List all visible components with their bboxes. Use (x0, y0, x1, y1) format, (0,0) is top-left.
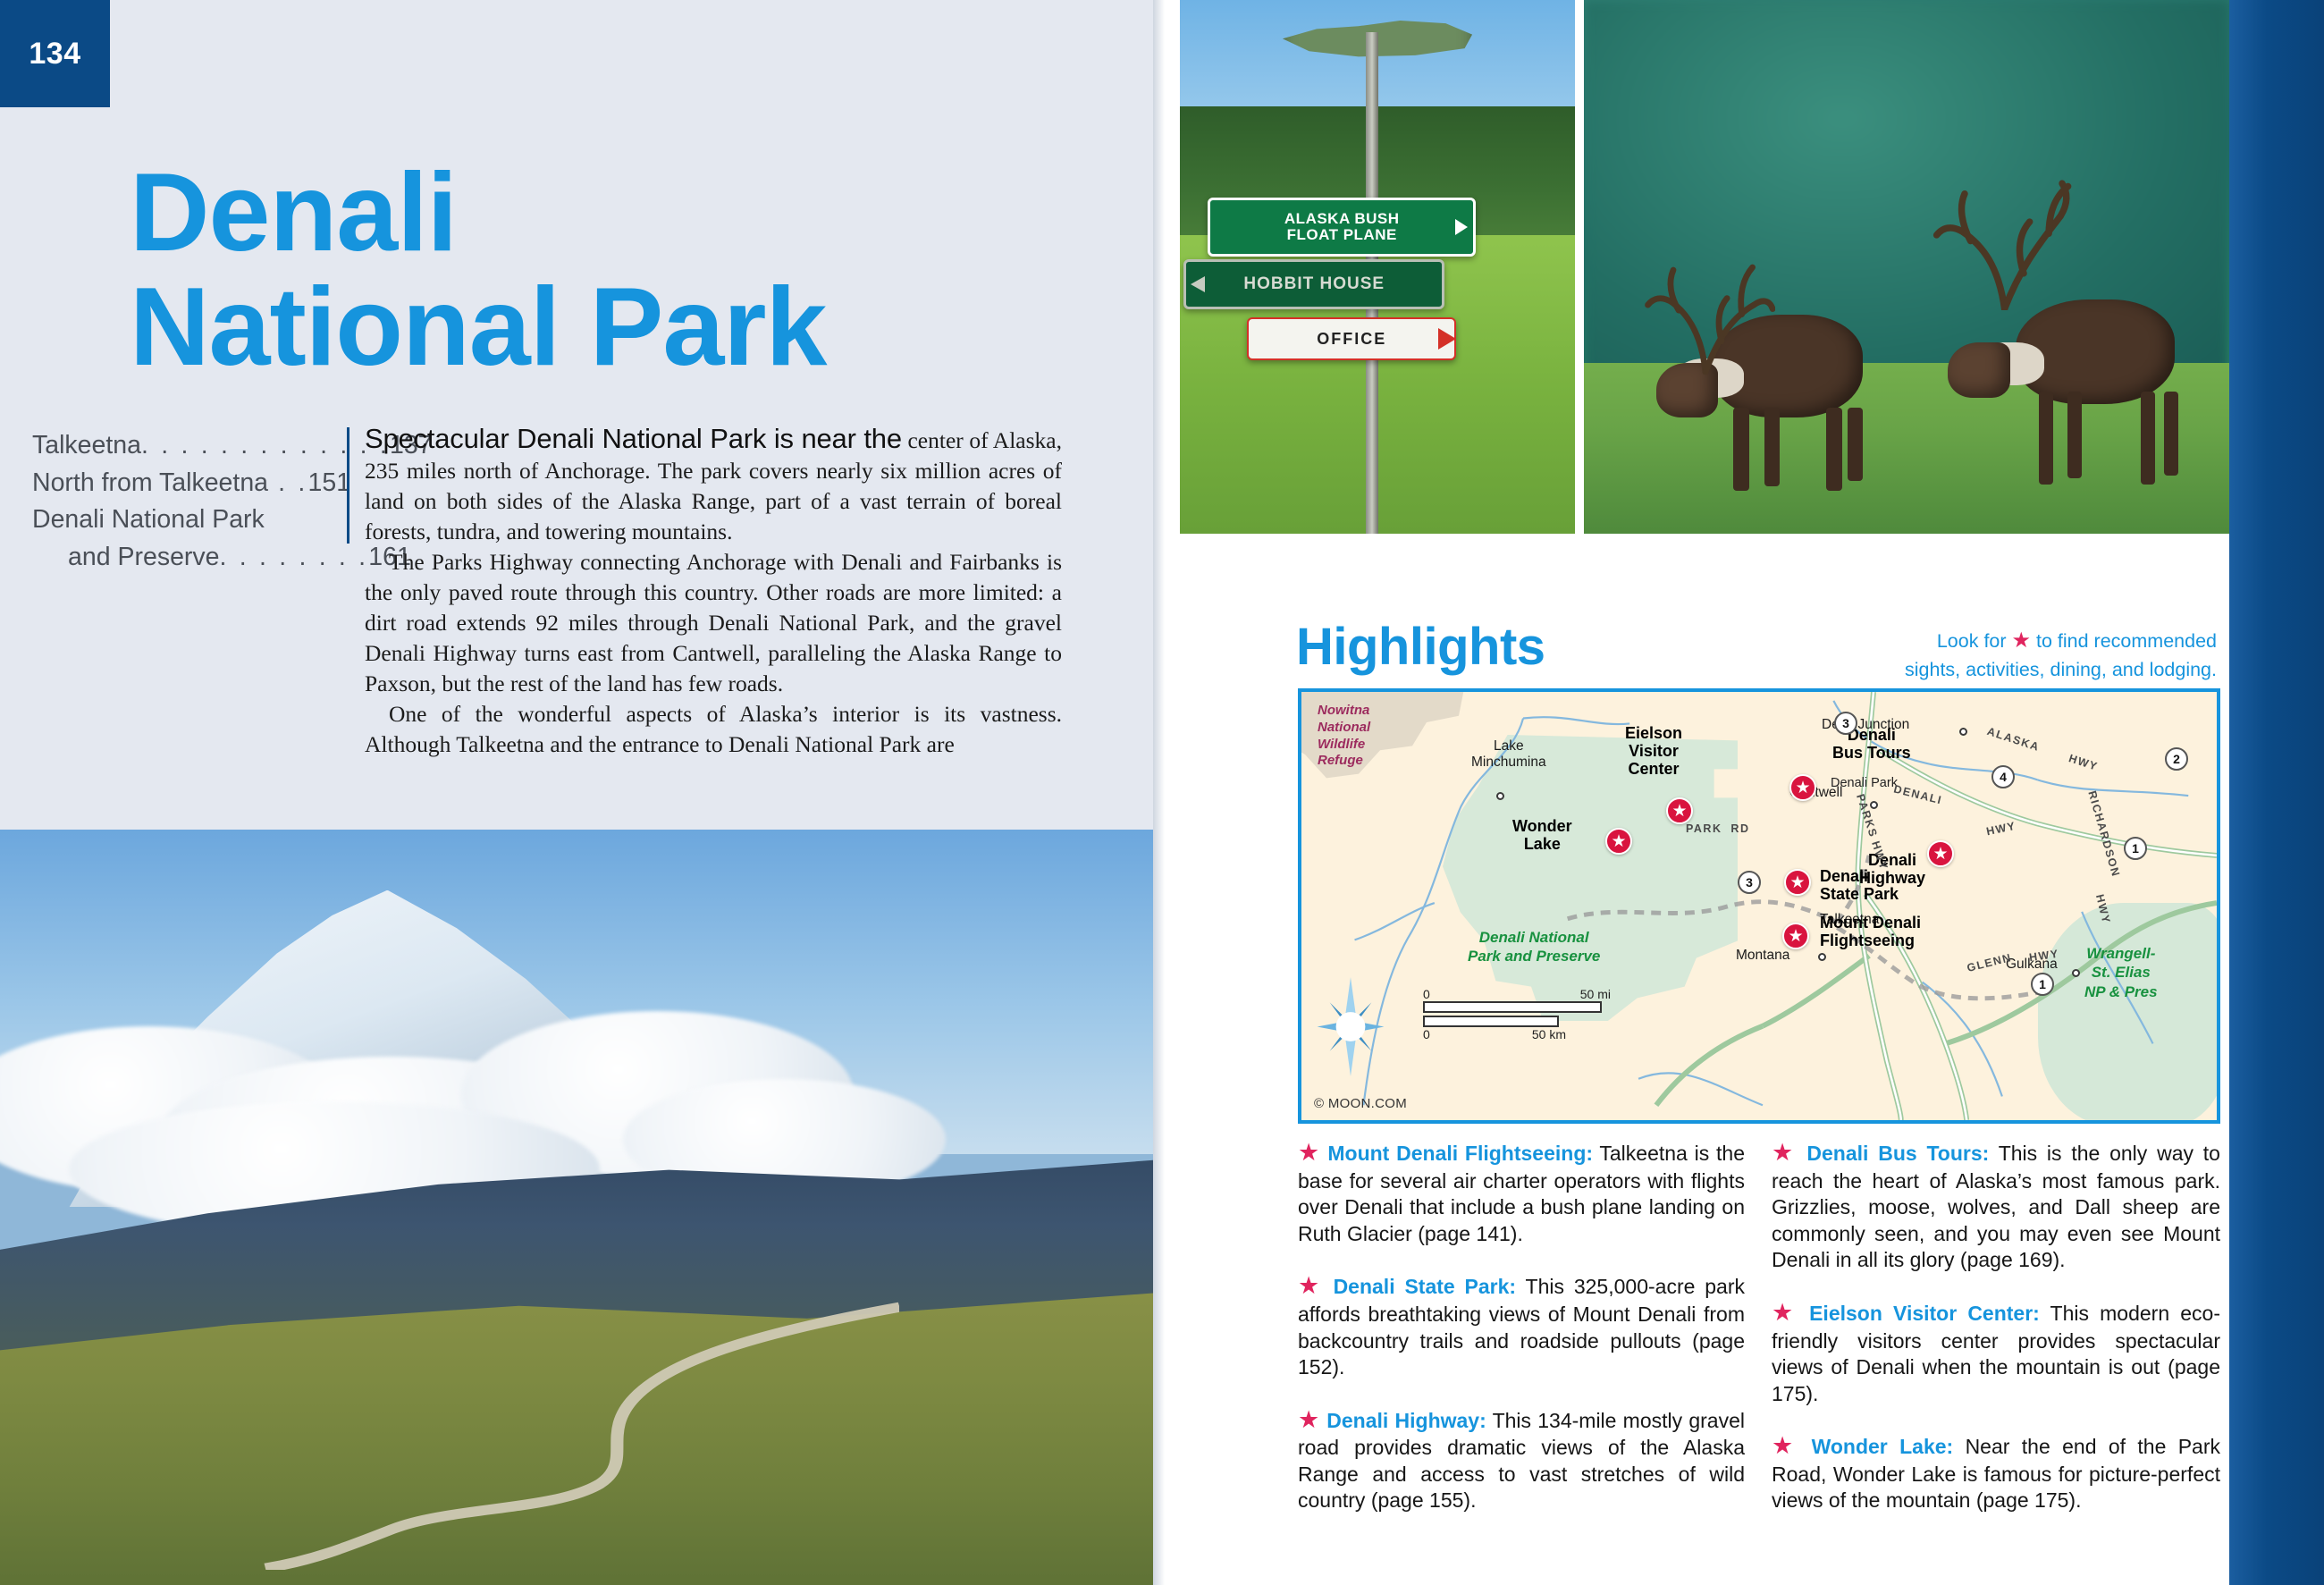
map-label-eielson-visitor-center: EielsonVisitorCenter (1625, 724, 1682, 778)
highlight-name[interactable]: Wonder Lake: (1812, 1435, 1954, 1458)
toc-label: Talkeetna (32, 431, 141, 459)
star-icon: ★ (1298, 1139, 1321, 1166)
highlight-entry-denali-state-park: ★ Denali State Park: This 325,000-acre p… (1298, 1270, 1745, 1380)
city-dot-gulkana (2072, 969, 2080, 977)
highlight-entry-denali-bus-tours: ★ Denali Bus Tours: This is the only way… (1772, 1137, 2220, 1274)
guidebook-spread: 134 Denali National Park Talkeetna. . . … (0, 0, 2324, 1585)
caribou-right (1919, 181, 2203, 491)
map-label-wrangell-st-elias: Wrangell-St. EliasNP & Pres (2084, 944, 2158, 1001)
toc-label: and Preserve (68, 543, 220, 571)
highlights-heading: Highlights (1296, 617, 1545, 677)
star-icon: ★ (1772, 1432, 1799, 1459)
star-icon: ★ (1772, 1299, 1798, 1326)
map-scale-miles-labels: 0 50 mi (1423, 987, 1611, 1001)
map-marker-mount-denali-flightseeing[interactable]: ★ (1782, 923, 1809, 949)
city-dot-montana (1818, 953, 1826, 961)
highway-shield-1-south: 1 (2031, 973, 2054, 996)
highway-shield-3-south: 3 (1738, 871, 1761, 894)
toc-label: North from Talkeetna (32, 468, 268, 497)
scale-bar-km (1423, 1016, 1559, 1027)
note-text-after: to find recommended (2036, 630, 2217, 652)
highlight-name[interactable]: Denali Bus Tours: (1806, 1142, 1989, 1165)
map-scale-km-labels: 0 50 km (1423, 1027, 1566, 1041)
scale-bar-miles (1423, 1001, 1602, 1013)
intro-lead: Spectacular Denali National Park is near… (365, 423, 902, 454)
toc-dots: . . . . . . . . (220, 543, 369, 571)
toc-page: 151 (308, 468, 351, 497)
highlight-entry-denali-highway: ★ Denali Highway: This 134-mile mostly g… (1298, 1404, 1745, 1514)
caribou-leg (1733, 408, 1748, 491)
intro-text-column: Spectacular Denali National Park is near… (365, 423, 1062, 760)
highway-shield-3: 3 (1834, 712, 1857, 735)
star-icon: ★ (1772, 1139, 1798, 1166)
sign-alaska-bush-float-plane: ALASKA BUSH FLOAT PLANE (1208, 198, 1477, 257)
highlight-text: ★ Denali Bus Tours: This is the only way… (1772, 1137, 2220, 1274)
toc-item-and-preserve[interactable]: and Preserve. . . . . . . .161 (32, 539, 336, 577)
toc-dots: . . (268, 468, 307, 497)
caribou-leg (2067, 392, 2082, 478)
map-scale-bar: 0 50 mi 0 50 km (1423, 987, 1611, 1041)
map-label-lake-minchumina: LakeMinchumina (1471, 738, 1546, 771)
sign-office: OFFICE (1247, 317, 1456, 360)
intro-paragraph-3: One of the wonderful aspects of Alaska’s… (365, 699, 1062, 760)
arrow-right-icon (1438, 328, 1456, 350)
highlight-entry-wonder-lake: ★ Wonder Lake: Near the end of the Park … (1772, 1430, 2220, 1514)
highway-shield-4: 4 (1991, 765, 2015, 788)
toc-item-denali-national-park[interactable]: Denali National Park (32, 502, 336, 539)
highway-shield-2: 2 (2165, 747, 2188, 771)
compass-rose-icon (1316, 974, 1385, 1082)
arrow-left-icon (1191, 276, 1205, 292)
caribou-leg (2039, 392, 2053, 485)
photo-float-plane-signs: ALASKA BUSH FLOAT PLANE HOBBIT HOUSE OFF… (1180, 0, 1575, 534)
toc-dots: . . . . . . . . . . . . . (141, 431, 390, 459)
photo-park-road (254, 1298, 899, 1570)
map-marker-denali-highway[interactable]: ★ (1927, 840, 1954, 867)
page-title: Denali National Park (130, 156, 1068, 384)
map-label-montana: Montana (1736, 948, 1789, 964)
star-icon: ★ (1298, 1406, 1320, 1433)
city-dot-delta-junction (1959, 728, 1967, 736)
caribou-leg (1764, 408, 1780, 486)
map-marker-wonder-lake[interactable]: ★ (1605, 828, 1632, 855)
highlights-map[interactable]: NowitnaNationalWildlifeRefuge Denali Nat… (1298, 688, 2220, 1124)
page-gutter (1153, 0, 1173, 1585)
highlights-column-left: ★ Mount Denali Flightseeing: Talkeetna i… (1298, 1137, 1745, 1538)
page-title-line-1: Denali (130, 156, 1068, 271)
photo-denali-mountain (0, 830, 1153, 1585)
note-line-2: sights, activities, dining, and lodging. (1905, 659, 2217, 680)
map-label-denali-park-preserve: Denali NationalPark and Preserve (1468, 928, 1600, 966)
caribou-antlers (1641, 240, 1775, 368)
sign-text: HOBBIT HOUSE (1243, 274, 1385, 294)
highlight-name[interactable]: Mount Denali Flightseeing: (1327, 1142, 1593, 1165)
highlights-column-right: ★ Denali Bus Tours: This is the only way… (1772, 1137, 2220, 1538)
city-dot-lake-minchumina (1496, 792, 1504, 800)
highlight-text: ★ Mount Denali Flightseeing: Talkeetna i… (1298, 1137, 1745, 1247)
table-of-contents: Talkeetna. . . . . . . . . . . . .137 No… (32, 427, 336, 576)
map-marker-denali-bus-tours[interactable]: ★ (1789, 774, 1816, 801)
highlight-text: ★ Denali State Park: This 325,000-acre p… (1298, 1270, 1745, 1380)
highlight-name[interactable]: Denali State Park: (1334, 1275, 1517, 1298)
left-page: 134 Denali National Park Talkeetna. . . … (0, 0, 1173, 1585)
caribou-leg (1848, 408, 1863, 481)
sign-line-1: ALASKA BUSH (1284, 211, 1400, 227)
page-number: 134 (29, 37, 80, 72)
map-label-park-rd: PARK RD (1686, 822, 1750, 835)
toc-item-north-from-talkeetna[interactable]: North from Talkeetna . .151 (32, 465, 336, 502)
sign-text: OFFICE (1317, 330, 1386, 349)
highlight-name[interactable]: Denali Highway: (1326, 1409, 1486, 1432)
highlight-text: ★ Denali Highway: This 134-mile mostly g… (1298, 1404, 1745, 1514)
caribou-leg (2141, 392, 2155, 485)
note-text-before: Look for (1937, 630, 2007, 652)
city-dot-cantwell (1870, 801, 1878, 809)
toc-divider (347, 427, 349, 544)
arrow-right-icon (1455, 219, 1468, 235)
star-icon: ★ (2012, 628, 2032, 653)
toc-label: Denali National Park (32, 505, 265, 534)
map-label-nowitna-refuge: NowitnaNationalWildlifeRefuge (1318, 703, 1370, 770)
caribou-antlers (1931, 163, 2078, 355)
map-label-denali-park: Denali Park (1831, 776, 1898, 790)
highlight-entry-eielson-visitor-center: ★ Eielson Visitor Center: This modern ec… (1772, 1297, 2220, 1407)
highlight-text: ★ Eielson Visitor Center: This modern ec… (1772, 1297, 2220, 1407)
highway-shield-1: 1 (2124, 837, 2147, 860)
highlight-entry-mount-denali-flightseeing: ★ Mount Denali Flightseeing: Talkeetna i… (1298, 1137, 1745, 1247)
map-marker-eielson-visitor-center[interactable]: ★ (1666, 797, 1693, 824)
map-label-denali-state-park: DenaliState Park (1820, 867, 1899, 903)
scale-km-max: 50 km (1532, 1027, 1566, 1041)
caribou-leg (1826, 408, 1841, 491)
map-label-mount-denali-flightseeing: Mount DenaliFlightseeing (1820, 914, 1921, 949)
highlights-legend-note: Look for ★ to find recommended sights, a… (1752, 626, 2217, 684)
sign-hobbit-house: HOBBIT HOUSE (1183, 259, 1444, 310)
scale-mi-zero: 0 (1423, 987, 1430, 1001)
toc-item-talkeetna[interactable]: Talkeetna. . . . . . . . . . . . .137 (32, 427, 336, 465)
scale-mi-max: 50 mi (1580, 987, 1611, 1001)
map-credit: © MOON.COM (1314, 1096, 1407, 1111)
highlight-text: ★ Wonder Lake: Near the end of the Park … (1772, 1430, 2220, 1514)
map-marker-denali-state-park[interactable]: ★ (1784, 869, 1811, 896)
caribou-leg (2164, 392, 2178, 475)
star-icon: ★ (1298, 1272, 1324, 1299)
highlight-name[interactable]: Eielson Visitor Center: (1809, 1302, 2040, 1325)
map-label-wonder-lake: WonderLake (1512, 817, 1572, 853)
intro-paragraph-1: Spectacular Denali National Park is near… (365, 423, 1062, 547)
scale-km-zero: 0 (1423, 1027, 1430, 1041)
sign-line-2: FLOAT PLANE (1284, 227, 1400, 243)
page-title-line-2: National Park (130, 271, 1068, 385)
intro-paragraph-2: The Parks Highway connecting Anchorage w… (365, 547, 1062, 699)
right-edge-bar (2229, 0, 2324, 1585)
caribou-left (1636, 246, 1894, 492)
page-number-tab: 134 (0, 0, 110, 107)
photo-caribou (1584, 0, 2229, 534)
